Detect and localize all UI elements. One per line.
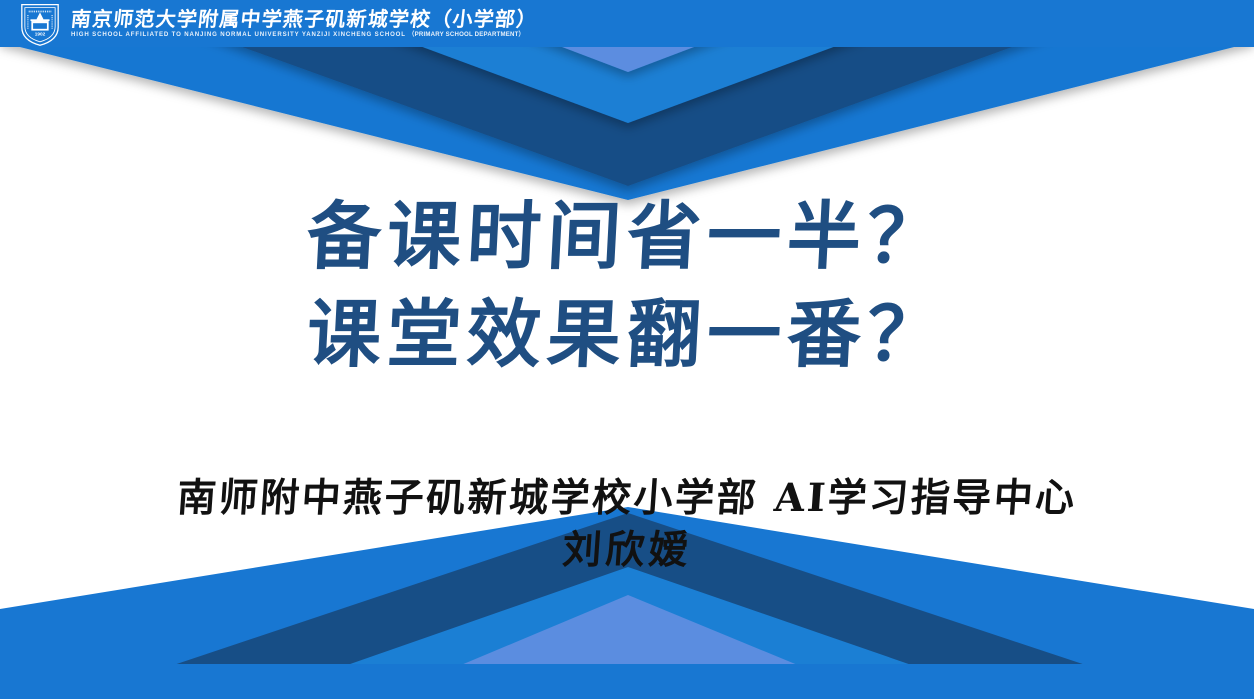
presenter-info: 南师附中燕子矶新城学校小学部 AI学习指导中心 刘欣嫒 <box>0 472 1254 576</box>
header-branding: 1902 南京师范大学附属中学燕子矶新城学校（小学部） HIGH SCHOOL … <box>18 0 537 47</box>
presentation-slide: 1902 南京师范大学附属中学燕子矶新城学校（小学部） HIGH SCHOOL … <box>0 0 1254 699</box>
school-dept-en: （PRIMARY SCHOOL DEPARTMENT） <box>408 31 525 38</box>
school-name-cn: 南京师范大学附属中学燕子矶新城学校（小学部） <box>70 9 539 29</box>
slide-content: 备课时间省一半？ 课堂效果翻一番？ 南师附中燕子矶新城学校小学部 AI学习指导中… <box>0 0 1254 699</box>
school-name-block: 南京师范大学附属中学燕子矶新城学校（小学部） HIGH SCHOOL AFFIL… <box>71 9 537 38</box>
school-name-en-main: HIGH SCHOOL AFFILIATED TO NANJING NORMAL… <box>71 31 406 38</box>
presenter-organization: 南师附中燕子矶新城学校小学部 AI学习指导中心 <box>0 472 1254 524</box>
crest-year: 1902 <box>35 31 46 37</box>
header-band: 1902 南京师范大学附属中学燕子矶新城学校（小学部） HIGH SCHOOL … <box>0 0 1254 47</box>
footer-band <box>0 664 1254 699</box>
presenter-name: 刘欣嫒 <box>0 524 1254 576</box>
title-line-2: 课堂效果翻一番？ <box>0 286 1254 384</box>
school-crest-icon: 1902 <box>18 2 62 47</box>
slide-title: 备课时间省一半？ 课堂效果翻一番？ <box>0 188 1254 384</box>
school-name-en: HIGH SCHOOL AFFILIATED TO NANJING NORMAL… <box>71 32 537 38</box>
title-line-1: 备课时间省一半？ <box>0 188 1254 286</box>
